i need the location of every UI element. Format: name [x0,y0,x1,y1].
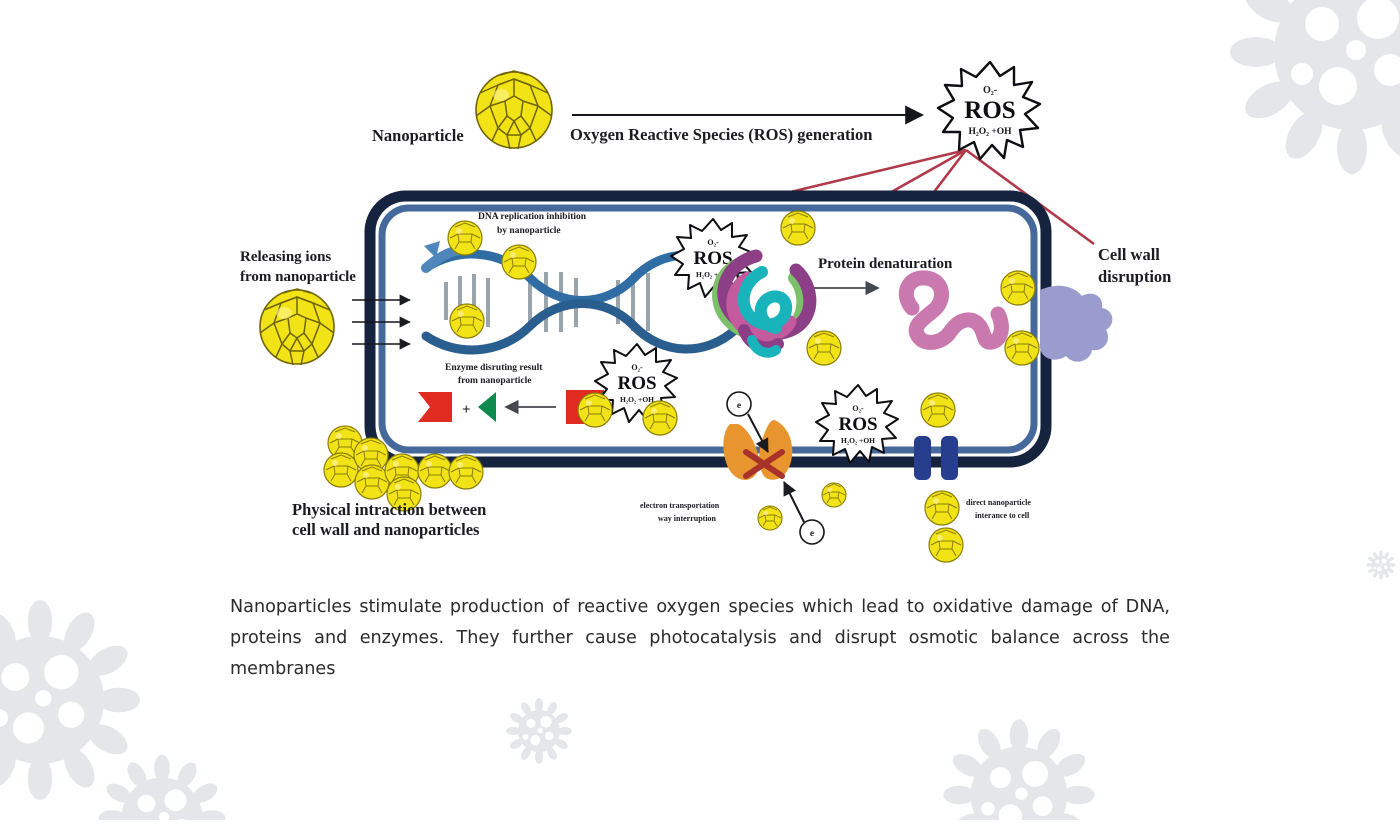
releasing-ions-label-line2: from nanoparticle [240,269,356,285]
nanoparticle-icon-protein-4 [1005,331,1039,365]
ros-badge-enzyme-word: ROS [617,373,656,394]
ros-badge-enzyme-species: H₂O₂ +OH [620,395,654,404]
protein-denaturation-label: Protein denaturation [818,256,953,272]
ros-badge-enzyme-superoxide: O₂- [631,363,643,372]
ros-badge-electron-word: ROS [838,414,877,435]
nanoparticle-icon-channel-1 [921,393,955,427]
cell-wall-disruption-blob [1040,286,1112,362]
nanoparticle-icon-wall-7 [418,454,452,488]
nanoparticle-icon-channel-2 [925,491,959,525]
ros-badge-dna-superoxide: O₂- [707,238,719,247]
enzyme-label-line1: Enzyme disruting result [445,363,543,373]
nanoparticle-icon-wall-8 [449,455,483,489]
watermark-virus-bottom-right [943,719,1094,820]
nanoparticle-icon-electron-1 [758,506,782,530]
ros-badge-top-word: ROS [964,97,1015,124]
ros-badge-electron-species: H₂O₂ +OH [841,436,875,445]
cell-wall-disruption-label-line2: disruption [1098,267,1171,286]
electron-symbol-top: e [737,401,741,411]
nanoparticle-icon-left [260,289,334,365]
figure-caption: Nanoparticles stimulate production of re… [230,592,1170,685]
nanoparticle-icon-top [476,71,552,149]
figure-caption-text: Nanoparticles stimulate production of re… [230,592,1170,685]
nanoparticle-icon-enzyme-1 [578,393,612,427]
electron-transport-label-line2: way interruption [658,514,717,523]
dna-inhibition-label-line2: by nanoparticle [497,226,561,236]
nanoparticle-icon-channel-3 [929,528,963,562]
direct-entrance-label-line2: interance to cell [975,511,1030,520]
nanoparticle-icon-wall-2 [324,453,358,487]
physical-interaction-label-line1: Physical intraction between [292,500,486,519]
electron-arrow-bottom [784,482,804,522]
membrane-channel-right [941,436,958,480]
enzyme-label-line2: from nanoparticle [458,376,531,386]
electron-symbol-bottom: e [810,529,814,539]
watermark-virus-bottom-left [0,600,140,800]
ros-badge-top: O₂- ROS H₂O₂ +OH [938,62,1040,159]
cell-wall-disruption-group: Cell wall disruption [1040,245,1171,362]
nanoparticle-icon-enzyme-2 [643,401,677,435]
nanoparticle-icon-dna-2 [502,245,536,279]
nanoparticle-antibacterial-mechanism-diagram: Nanoparticle Oxygen Reactive Species (RO… [0,0,1400,580]
nanoparticle-icon-wall-4 [355,465,389,499]
nanoparticle-icon-dna-3 [450,304,484,338]
ros-badge-electron-superoxide: O₂- [852,404,864,413]
ros-generation-row: Nanoparticle Oxygen Reactive Species (RO… [372,71,922,149]
watermark-virus-center-bottom [506,698,572,764]
electron-transport-label-line1: electron transportation [640,501,720,510]
diagram-svg: Nanoparticle Oxygen Reactive Species (RO… [0,0,1400,580]
nanoparticle-icon-protein-1 [781,211,815,245]
watermark-virus-bottom-left-small [99,755,226,820]
nanoparticle-icon-dna-1 [448,221,482,255]
ros-badge-top-superoxide: O₂- [983,85,997,96]
ros-generation-label: Oxygen Reactive Species (ROS) generation [570,125,872,144]
cell-wall-disruption-label-line1: Cell wall [1098,245,1160,264]
nanoparticle-icon-electron-2 [822,483,846,507]
enzyme-plus-sign: + [462,402,471,418]
releasing-ions-label-line1: Releasing ions [240,249,331,265]
direct-entrance-label-line1: direct nanoparticle [966,498,1031,507]
dna-inhibition-label-line1: DNA replication inhibition [478,212,587,222]
physical-interaction-label-line2: cell wall and nanoparticles [292,520,480,539]
nanoparticle-label: Nanoparticle [372,126,464,145]
membrane-channel-left [914,436,931,480]
ros-badge-top-species: H₂O₂ +OH [968,127,1012,137]
nanoparticle-icon-protein-3 [1001,271,1035,305]
nanoparticle-icon-protein-2 [807,331,841,365]
